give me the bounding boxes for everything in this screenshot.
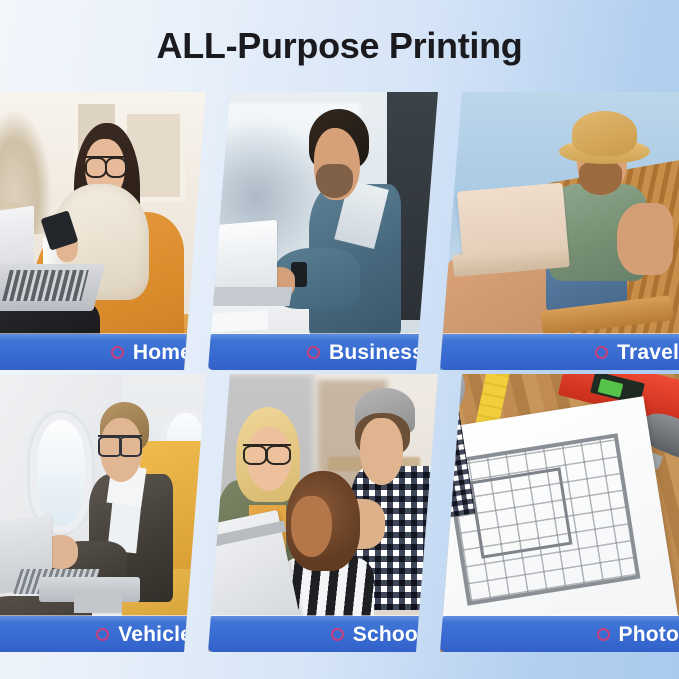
panel-label-text: Travel	[617, 342, 679, 363]
photo-photo	[440, 374, 679, 652]
panel-travel[interactable]: Travel	[440, 92, 679, 370]
photo-travel	[440, 92, 679, 370]
panel-label-school[interactable]: School	[208, 616, 438, 652]
bullet-ring-icon	[331, 628, 344, 641]
title-bar: ALL-Purpose Printing	[0, 0, 679, 92]
panel-grid: Home	[0, 92, 679, 654]
panel-label-text: School	[353, 624, 424, 645]
photo-school	[208, 374, 438, 652]
panel-label-text: Business	[329, 342, 424, 363]
panel-label-travel[interactable]: Travel	[440, 334, 679, 370]
panel-business[interactable]: Business	[208, 92, 438, 370]
photo-business	[208, 92, 438, 370]
panel-label-text: Vehicle	[118, 624, 192, 645]
panel-vehicle[interactable]: Vehicle	[0, 374, 206, 652]
page-title: ALL-Purpose Printing	[157, 25, 523, 67]
photo-vehicle	[0, 374, 206, 652]
bullet-ring-icon	[96, 628, 109, 641]
panel-photo[interactable]: Photo	[440, 374, 679, 652]
panel-school[interactable]: School	[208, 374, 438, 652]
bullet-ring-icon	[111, 346, 124, 359]
panel-label-text: Home	[133, 342, 192, 363]
photo-home	[0, 92, 206, 370]
poster: ALL-Purpose Printing	[0, 0, 679, 679]
panel-home[interactable]: Home	[0, 92, 206, 370]
panel-label-text: Photo	[619, 624, 679, 645]
bullet-ring-icon	[595, 346, 608, 359]
bullet-ring-icon	[597, 628, 610, 641]
panel-label-vehicle[interactable]: Vehicle	[0, 616, 206, 652]
panel-label-business[interactable]: Business	[208, 334, 438, 370]
panel-label-home[interactable]: Home	[0, 334, 206, 370]
panel-label-photo[interactable]: Photo	[440, 616, 679, 652]
bullet-ring-icon	[307, 346, 320, 359]
